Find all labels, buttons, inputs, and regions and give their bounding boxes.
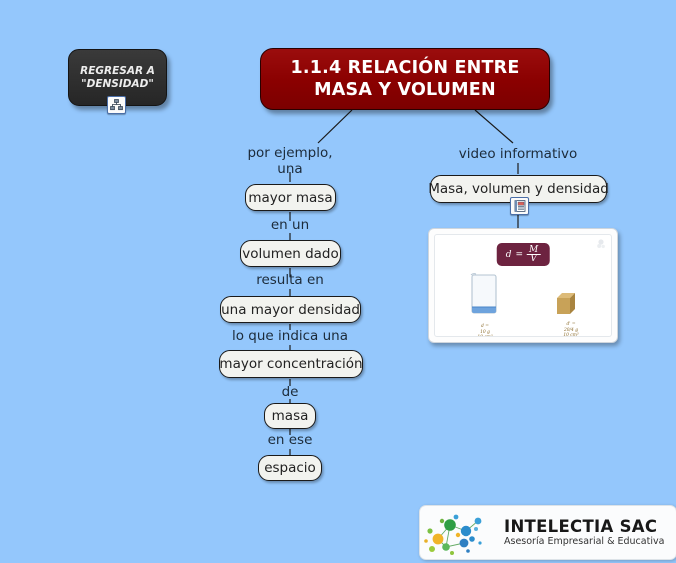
beaker-caption: d = 10 g 10 cm³ — [457, 319, 513, 337]
node-label: masa — [272, 408, 309, 424]
node-volumen-dado[interactable]: volumen dado — [240, 240, 341, 267]
title-line1: 1.1.4 RELACIÓN ENTRE — [291, 57, 520, 79]
node-label: mayor concentración — [219, 356, 362, 372]
network-dots-logo-icon — [420, 509, 504, 557]
node-label: mayor masa — [248, 190, 332, 206]
formula-equals: = — [516, 250, 524, 260]
connector-label-en-un: en un — [265, 217, 315, 233]
logo-title: INTELECTIA SAC — [504, 517, 664, 536]
video-preview-panel[interactable]: d = M V d = 10 — [428, 228, 618, 343]
cube-caption: d' = 20/4 g 10 cm³ — [541, 317, 601, 337]
formula-denominator: V — [530, 255, 537, 263]
density-formula: d = M V — [497, 243, 550, 266]
node-label: una mayor densidad — [221, 302, 360, 318]
connector-label-por-ejemplo: por ejemplo, una — [235, 145, 345, 177]
cube-caption-d: d' = — [566, 322, 575, 327]
connector-label-lo-que-indica-una: lo que indica una — [230, 328, 350, 344]
beaker-caption-den: 10 cm³ — [477, 335, 492, 337]
intelectia-logo-panel: INTELECTIA SAC Asesoría Empresarial & Ed… — [419, 505, 676, 560]
map-link-icon[interactable] — [107, 96, 126, 114]
connector-label-resulta-en: resulta en — [250, 272, 330, 288]
page-title[interactable]: 1.1.4 RELACIÓN ENTRE MASA Y VOLUMEN — [260, 48, 550, 110]
node-label: volumen dado — [242, 246, 339, 262]
node-mayor-concentracion[interactable]: mayor concentración — [219, 350, 363, 378]
wood-cube-illustration — [555, 290, 581, 316]
connector-label-en-ese: en ese — [258, 432, 322, 448]
node-una-mayor-densidad[interactable]: una mayor densidad — [220, 296, 361, 323]
note-document-icon[interactable] — [510, 197, 529, 215]
cube-caption-den: 10 cm³ — [563, 333, 578, 337]
note-document-glyph — [514, 200, 526, 212]
video-preview-image: d = M V d = 10 — [434, 234, 612, 337]
node-label: espacio — [264, 460, 316, 476]
node-mayor-masa[interactable]: mayor masa — [245, 184, 336, 211]
node-espacio[interactable]: espacio — [258, 455, 322, 481]
regresar-label-line2: "DENSIDAD" — [80, 78, 155, 91]
title-line2: MASA Y VOLUMEN — [314, 79, 496, 101]
connector-label-de: de — [270, 384, 310, 400]
regresar-label-line1: REGRESAR A — [80, 65, 155, 78]
node-label: Masa, volumen y densidad — [428, 181, 609, 197]
beaker-illustration — [469, 271, 499, 316]
watermark-icon — [595, 238, 607, 250]
logo-subtitle: Asesoría Empresarial & Educativa — [504, 536, 664, 548]
connector-label-video-informativo: video informativo — [443, 146, 593, 162]
formula-d: d — [506, 250, 512, 260]
node-masa[interactable]: masa — [264, 403, 316, 429]
mindmap-canvas: REGRESAR A "DENSIDAD" 1.1.4 RELACIÓN ENT… — [0, 0, 676, 563]
beaker-caption-d: d = — [481, 324, 489, 329]
map-link-glyph — [110, 99, 123, 111]
